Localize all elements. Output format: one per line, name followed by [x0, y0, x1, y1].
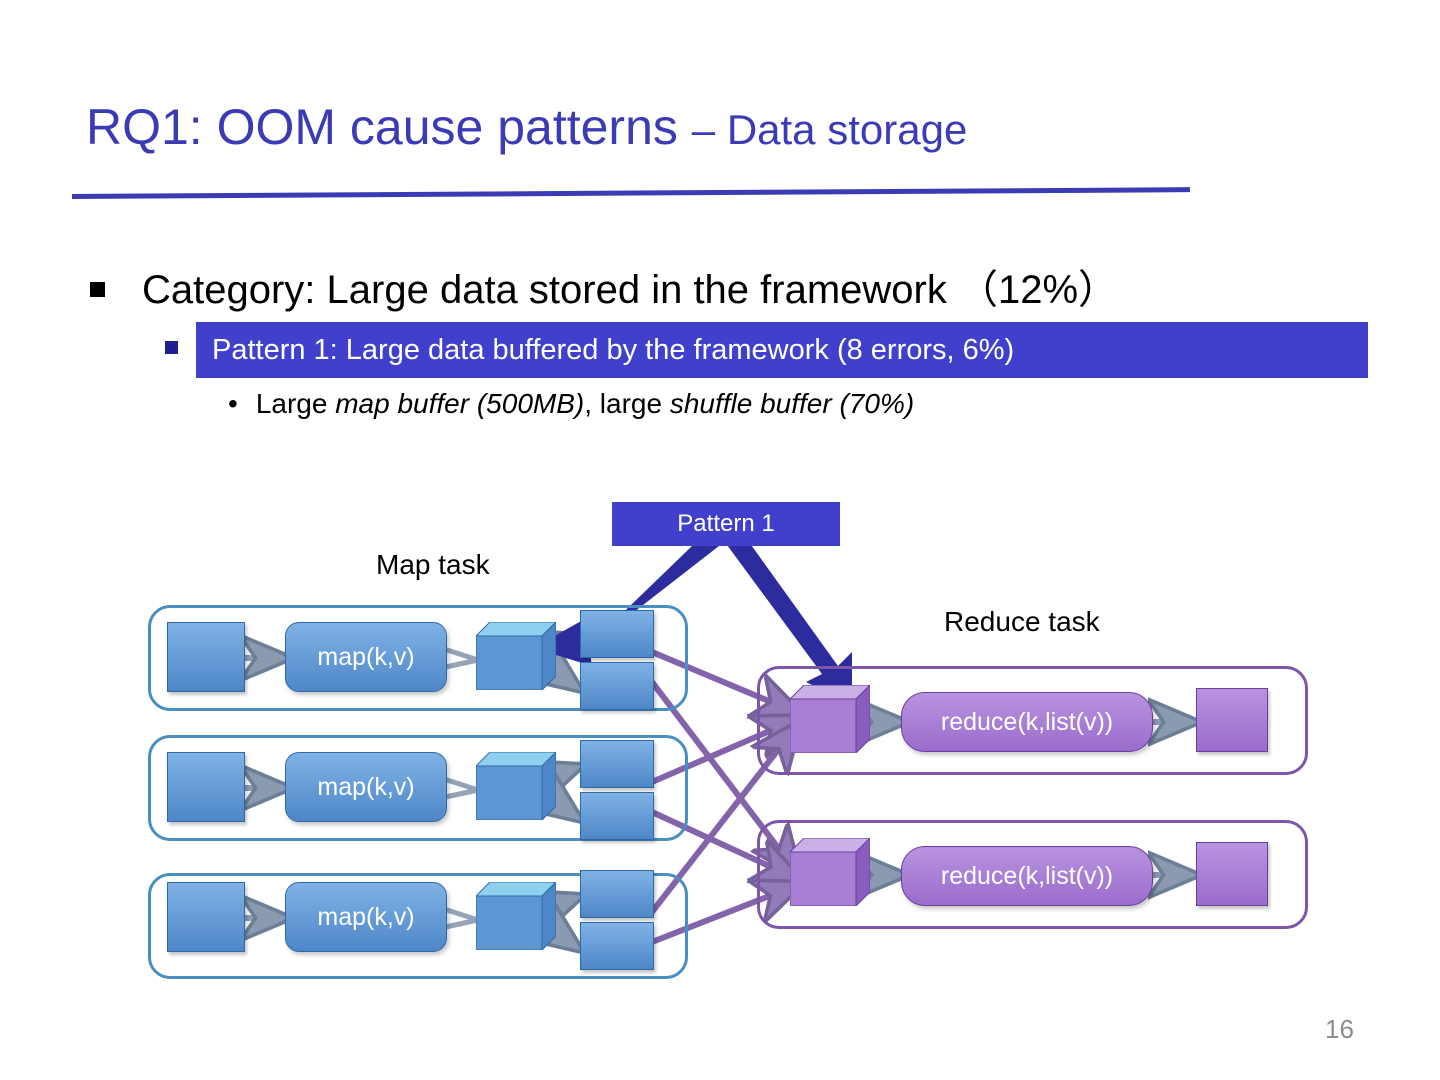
reduce-function-box-2: reduce(k,list(v)) [901, 846, 1153, 906]
map-function-box-3: map(k,v) [285, 882, 447, 952]
map-buffer-cube-3 [476, 882, 556, 950]
page-title-main: RQ1: OOM cause patterns [86, 99, 692, 155]
map-function-label-1: map(k,v) [317, 643, 414, 672]
reduce-task-label: Reduce task [944, 606, 1100, 638]
square-bullet-icon [90, 282, 105, 297]
map-buffer-cube-1 [476, 622, 556, 690]
title-underline [72, 187, 1190, 199]
reduce-function-box-1: reduce(k,list(v)) [901, 692, 1153, 752]
bullet-level3-mid: , large [584, 388, 670, 419]
mapreduce-diagram: map(k,v) map(k,v) map(k,v) [0, 470, 1440, 1010]
reduce-output-block-2 [1196, 842, 1268, 906]
dot-bullet-icon: • [228, 390, 238, 418]
page-number: 16 [1325, 1014, 1354, 1045]
map-input-block-2 [167, 752, 245, 822]
bullet-level1-label: Category: Large data stored in the frame… [142, 266, 1118, 314]
reduce-buffer-cube-1 [790, 685, 870, 753]
bullet-level3: • Large map buffer (500MB), large shuffl… [228, 388, 914, 420]
reduce-buffer-cube-2 [790, 838, 870, 906]
bullet-level1: Category: Large data stored in the frame… [90, 266, 1118, 314]
map-output-block-1a [580, 610, 654, 658]
map-output-block-2b [580, 792, 654, 840]
map-function-box-2: map(k,v) [285, 752, 447, 822]
pattern1-callout: Pattern 1 [612, 502, 840, 546]
map-input-block-1 [167, 622, 245, 692]
square-bullet-icon-level2 [165, 341, 178, 354]
map-output-block-3a [580, 870, 654, 918]
page-title-sub: – Data storage [692, 106, 968, 153]
map-output-block-1b [580, 662, 654, 710]
map-buffer-cube-2 [476, 752, 556, 820]
reduce-function-label-2: reduce(k,list(v)) [941, 862, 1113, 891]
bullet-level3-label: Large map buffer (500MB), large shuffle … [256, 388, 914, 420]
map-function-box-1: map(k,v) [285, 622, 447, 692]
bullet-level2-label: Pattern 1: Large data buffered by the fr… [212, 334, 1014, 367]
map-output-block-2a [580, 740, 654, 788]
page-title: RQ1: OOM cause patterns – Data storage [86, 98, 967, 156]
reduce-output-block-1 [1196, 688, 1268, 752]
map-task-label: Map task [376, 549, 490, 581]
map-function-label-2: map(k,v) [317, 773, 414, 802]
bullet-level3-em2: shuffle buffer (70%) [670, 388, 914, 419]
bullet-level3-prefix: Large [256, 388, 335, 419]
pattern1-callout-label: Pattern 1 [677, 510, 774, 538]
bullet-level3-em1: map buffer (500MB) [335, 388, 584, 419]
map-input-block-3 [167, 882, 245, 952]
map-function-label-3: map(k,v) [317, 903, 414, 932]
reduce-function-label-1: reduce(k,list(v)) [941, 708, 1113, 737]
map-output-block-3b [580, 922, 654, 970]
